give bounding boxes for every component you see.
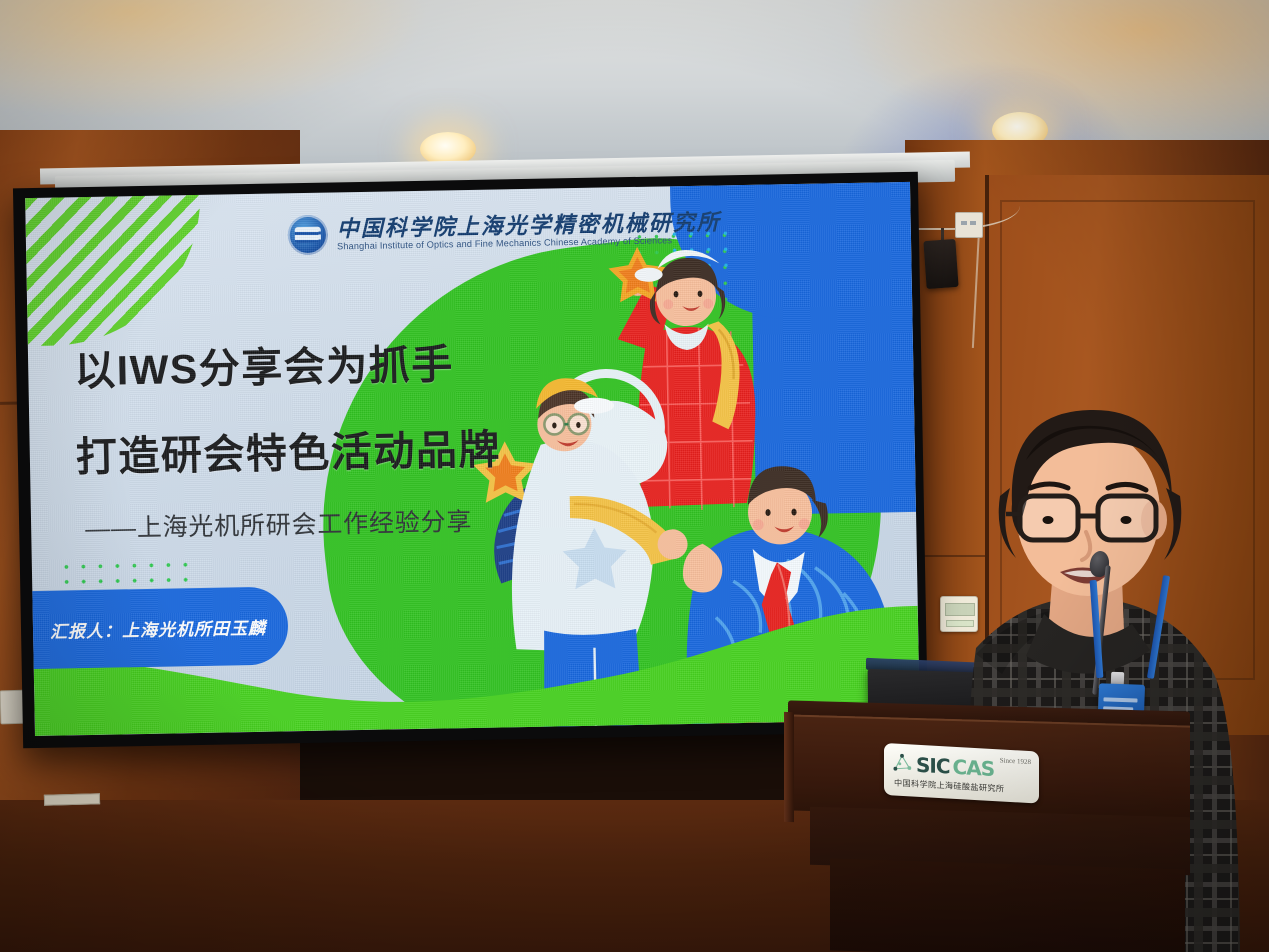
slide-title-line-1: 以IWS分享会为抓手 (74, 329, 500, 397)
projection-screen: 汇报人：上海光机所田玉麟 中国科学院上海光学精密机械研究所 Shanghai I… (13, 172, 928, 748)
lectern-front-panel: Since 1928 SICCAS 中国科学院上海硅酸盐研究所 (788, 714, 1190, 821)
lectern-left-edge (784, 712, 794, 822)
presenter-badge-text: 汇报人：上海光机所田玉麟 (50, 613, 266, 642)
institute-emblem-icon (287, 215, 328, 256)
presenter-badge: 汇报人：上海光机所田玉麟 (25, 586, 289, 669)
plaque-cas-label: CAS (953, 754, 995, 780)
wall-speaker (923, 239, 958, 289)
lectern-base (830, 858, 1185, 952)
siccas-plaque: Since 1928 SICCAS 中国科学院上海硅酸盐研究所 (884, 743, 1039, 804)
green-stripes-corner (25, 195, 203, 346)
presentation-photo-scene: 汇报人：上海光机所田玉麟 中国科学院上海光学精密机械研究所 Shanghai I… (0, 0, 1269, 952)
slide-subtitle: ——上海光机所研会工作经验分享 (85, 501, 503, 545)
wall-label-plate (44, 793, 100, 805)
slide-header: 中国科学院上海光学精密机械研究所 Shanghai Institute of O… (287, 207, 721, 255)
slide-title-block: 以IWS分享会为抓手 打造研会特色活动品牌 ——上海光机所研会工作经验分享 (74, 329, 503, 545)
wall-control-panel[interactable] (955, 212, 983, 238)
presentation-slide: 汇报人：上海光机所田玉麟 中国科学院上海光学精密机械研究所 Shanghai I… (25, 182, 920, 736)
plaque-since-label: Since 1928 (1000, 756, 1031, 766)
ceiling-warm-glow-left (0, 0, 430, 120)
lectern: Since 1928 SICCAS 中国科学院上海硅酸盐研究所 (770, 706, 1190, 952)
slide-title-line-2: 打造研会特色活动品牌 (75, 415, 501, 483)
molecule-network-icon (891, 752, 913, 775)
plaque-sic-label: SIC (916, 752, 950, 778)
